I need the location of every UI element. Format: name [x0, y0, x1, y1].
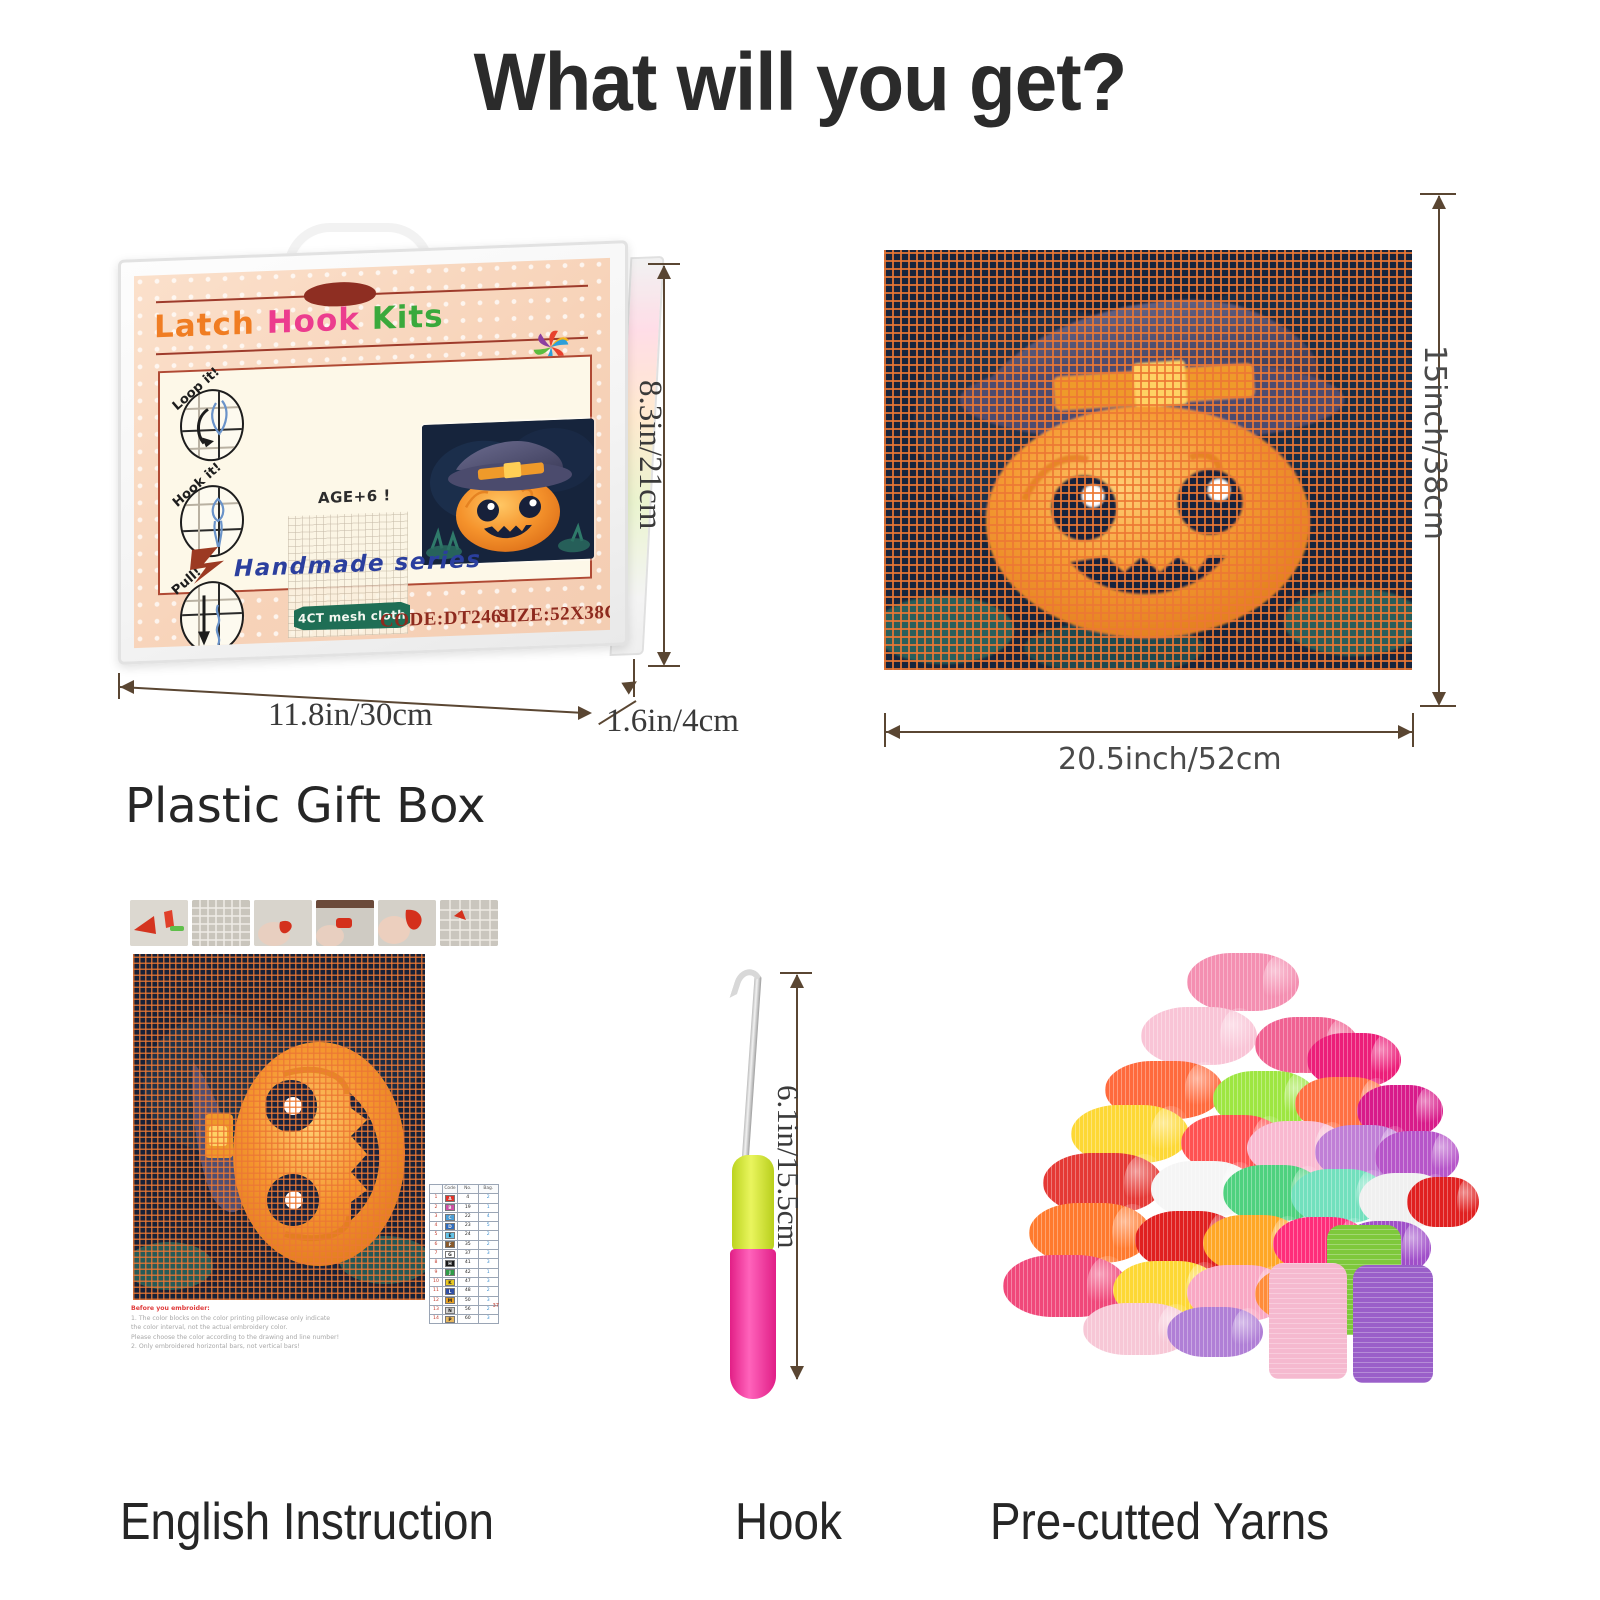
table-row: 9J421	[430, 1268, 499, 1277]
before-you-embroider-notes: Before you embroider: 1. The color block…	[131, 1304, 371, 1352]
brand-word-latch: Latch	[154, 305, 255, 345]
caption-gift-box: Plastic Gift Box	[125, 778, 485, 834]
cell-number: 4	[458, 1194, 478, 1203]
yarn-bundle	[1167, 1307, 1263, 1357]
color-swatch: G	[445, 1251, 455, 1258]
table-row: 2B191	[430, 1203, 499, 1212]
hook-latch-tip-icon	[729, 966, 766, 1007]
caption-english-instruction: English Instruction	[120, 1492, 494, 1552]
color-swatch: H	[445, 1260, 455, 1267]
box-depth-label: 1.6in/4cm	[606, 703, 739, 740]
col-bag: Bag.	[478, 1185, 498, 1194]
cell-index: 2	[430, 1203, 443, 1212]
cell-bag: 1	[478, 1203, 498, 1212]
color-swatch: A	[445, 1195, 455, 1202]
color-swatch: D	[445, 1223, 455, 1230]
table-row: 14P603	[430, 1315, 499, 1324]
yarn-bundle	[1407, 1177, 1479, 1227]
box-width-label: 11.8in/30cm	[268, 697, 433, 734]
tutorial-thumbnail: 6	[440, 900, 498, 946]
color-swatch: C	[445, 1214, 455, 1221]
cell-code: D	[442, 1222, 457, 1231]
cell-index: 8	[430, 1259, 443, 1268]
cell-index: 4	[430, 1222, 443, 1231]
table-row: 3C224	[430, 1212, 499, 1221]
product-size-text: SIZE:52X38CM	[498, 601, 610, 628]
yarn-bundle	[1029, 1203, 1151, 1263]
finished-artwork-preview	[422, 418, 594, 565]
infographic-root: What will you get? Latch Hook Kits	[0, 0, 1600, 1600]
color-swatch: F	[445, 1241, 455, 1248]
notes-heading: Before you embroider:	[131, 1304, 371, 1314]
cell-bag: 2	[478, 1287, 498, 1296]
col-index	[430, 1185, 443, 1194]
printed-pattern-chart	[133, 954, 425, 1300]
tutorial-thumbnail-strip: 1 2 3	[130, 900, 500, 948]
cell-number: 48	[458, 1287, 478, 1296]
color-swatch: L	[445, 1288, 455, 1295]
tutorial-thumbnail: 5	[378, 900, 436, 946]
hook-length-label: 6.1in/15.5cm	[770, 1085, 806, 1249]
cell-index: 14	[430, 1315, 443, 1324]
cell-index: 9	[430, 1268, 443, 1277]
cell-index: 10	[430, 1277, 443, 1286]
tutorial-thumbnail: 1	[130, 900, 188, 946]
brand-title: Latch Hook Kits	[154, 293, 590, 356]
color-swatch: B	[445, 1204, 455, 1211]
cell-bag: 3	[478, 1259, 498, 1268]
cell-code: H	[442, 1259, 457, 1268]
cell-code: P	[442, 1315, 457, 1324]
pre-cut-yarn-pile-figure	[955, 925, 1475, 1395]
notes-line-3: Please choose the color according to the…	[131, 1333, 371, 1343]
cell-bag: 3	[478, 1315, 498, 1324]
table-row: 4D235	[430, 1222, 499, 1231]
table-header-row: Code No. Bag.	[430, 1185, 499, 1194]
cell-code: K	[442, 1277, 457, 1286]
box-height-label: 8.3in/21cm	[631, 380, 668, 529]
table-row: 1A42	[430, 1194, 499, 1203]
cell-bag: 4	[478, 1212, 498, 1221]
caption-pre-cutted-yarns: Pre-cutted Yarns	[990, 1492, 1329, 1552]
cell-number: 60	[458, 1315, 478, 1324]
cell-bag: 2	[478, 1194, 498, 1203]
mesh-canvas-artwork	[884, 250, 1412, 670]
notes-line-2: the color interval, not the actual embro…	[131, 1323, 371, 1333]
cell-bag: 3	[478, 1277, 498, 1286]
tutorial-thumbnail: 2	[192, 900, 250, 946]
notes-line-4: 2. Only embroidered horizontal bars, not…	[131, 1342, 371, 1352]
col-no: No.	[458, 1185, 478, 1194]
cell-index: 1	[430, 1194, 443, 1203]
cell-bag: 1	[478, 1268, 498, 1277]
age-rating-text: AGE+6 !	[318, 486, 391, 507]
handmade-series-text: Handmade series	[234, 547, 481, 583]
brand-word-hook: Hook	[267, 301, 360, 341]
cell-number: 19	[458, 1203, 478, 1212]
page-title: What will you get?	[56, 36, 1544, 130]
table-row: 10K473	[430, 1277, 499, 1286]
cell-number: 24	[458, 1231, 478, 1240]
cell-code: F	[442, 1240, 457, 1249]
cell-bag: 3	[478, 1250, 498, 1259]
color-swatch: J	[445, 1269, 455, 1276]
yarn-bundle	[1187, 953, 1299, 1011]
cell-code: G	[442, 1250, 457, 1259]
cell-code: A	[442, 1194, 457, 1203]
caption-hook: Hook	[735, 1492, 842, 1552]
cell-number: 37	[458, 1250, 478, 1259]
cell-number: 41	[458, 1259, 478, 1268]
mesh-canvas-figure	[884, 250, 1412, 670]
hook-handle-upper	[732, 1155, 774, 1251]
yarn-bundle	[1141, 1007, 1257, 1065]
table-row: 6F352	[430, 1240, 499, 1249]
cell-index: 5	[430, 1231, 443, 1240]
cell-bag: 5	[478, 1222, 498, 1231]
cell-code: E	[442, 1231, 457, 1240]
color-swatch: K	[445, 1279, 455, 1286]
pattern-grid-overlay	[133, 954, 425, 1300]
brand-word-kits: Kits	[372, 298, 444, 337]
table-row: 7G373	[430, 1250, 499, 1259]
table-row: 5E242	[430, 1231, 499, 1240]
mesh-height-label: 15inch/38cm	[1417, 345, 1452, 540]
yarn-roll-standing	[1269, 1263, 1347, 1379]
instruction-sheet-figure: 1 2 3	[125, 900, 500, 1370]
cell-bag: 2	[478, 1231, 498, 1240]
zigzag-bolt-icon	[188, 542, 234, 588]
cell-index: 11	[430, 1287, 443, 1296]
notes-line-1: 1. The color blocks on the color printin…	[131, 1314, 371, 1324]
cell-number: 42	[458, 1268, 478, 1277]
cell-number: 23	[458, 1222, 478, 1231]
cell-number: 22	[458, 1212, 478, 1221]
hook-handle-lower	[730, 1249, 776, 1399]
box-front-face: Latch Hook Kits	[134, 258, 610, 648]
yarn-roll-standing	[1353, 1265, 1433, 1383]
cell-code: J	[442, 1268, 457, 1277]
cell-index: 6	[430, 1240, 443, 1249]
product-code-text: CODE:DT2461	[380, 606, 511, 633]
tutorial-thumbnail: 3	[254, 900, 312, 946]
cell-code: C	[442, 1212, 457, 1221]
cell-number: 35	[458, 1240, 478, 1249]
mesh-width-label: 20.5inch/52cm	[1058, 742, 1282, 777]
cell-index: 7	[430, 1250, 443, 1259]
gift-box-figure: Latch Hook Kits	[108, 205, 668, 675]
table-row: 8H413	[430, 1259, 499, 1268]
cell-index: 3	[430, 1212, 443, 1221]
col-code: Code	[442, 1185, 457, 1194]
color-swatch: E	[445, 1232, 455, 1239]
box-instruction-panel: Loop it! Hook it!	[158, 355, 592, 596]
cell-code: L	[442, 1287, 457, 1296]
step-diagram-pull	[180, 580, 244, 648]
cell-code: B	[442, 1203, 457, 1212]
table-row: 11L482	[430, 1287, 499, 1296]
color-swatch: P	[445, 1316, 455, 1323]
color-table-total: 37	[429, 1303, 499, 1309]
cell-number: 47	[458, 1277, 478, 1286]
cell-bag: 2	[478, 1240, 498, 1249]
tutorial-thumbnail: 4	[316, 900, 374, 946]
